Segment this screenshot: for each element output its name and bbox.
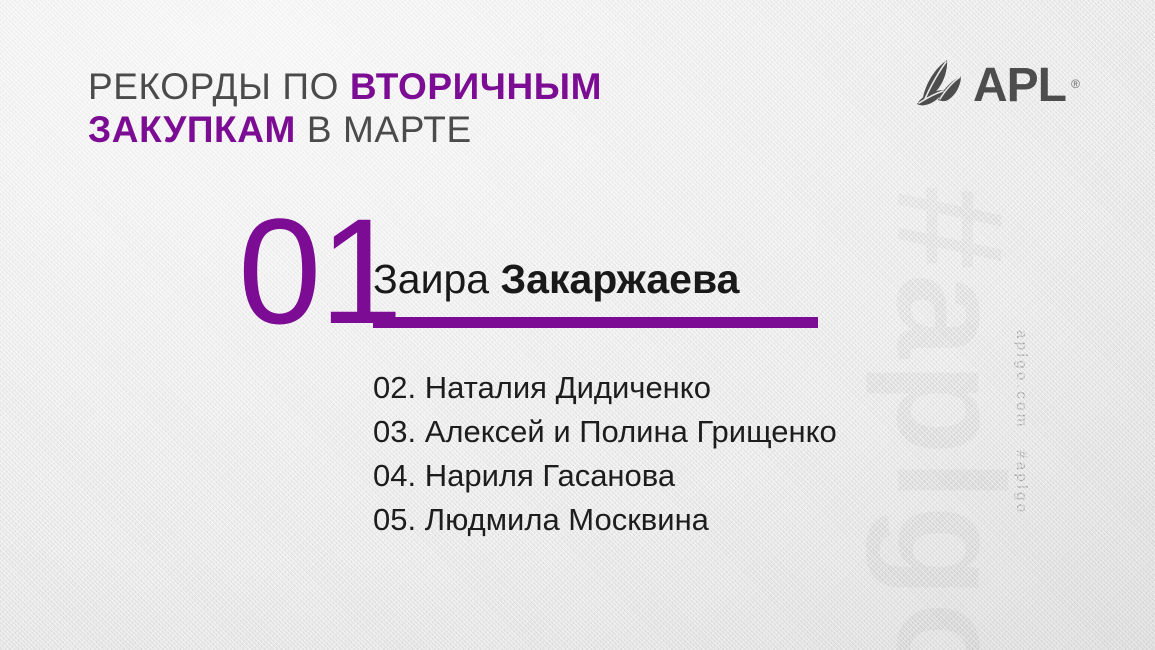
list-item-name: Нариля Гасанова	[425, 458, 675, 493]
slide-title-plain-2: В МАРТЕ	[296, 109, 472, 150]
slide-title-accent-1: ВТОРИЧНЫМ	[350, 66, 602, 107]
watermark-website: aplgo.com	[1013, 330, 1030, 430]
list-item-name: Алексей и Полина Грищенко	[425, 414, 837, 449]
brand-wordmark-text: APL	[973, 59, 1066, 112]
winner-name: Заира Закаржаева	[373, 255, 739, 303]
winner-last-name: Закаржаева	[500, 256, 739, 302]
list-item: 05. Людмила Москвина	[373, 498, 837, 542]
slide-title: РЕКОРДЫ ПО ВТОРИЧНЫМ ЗАКУПКАМ В МАРТЕ	[88, 65, 602, 151]
watermark-hashtag: #aplgo	[1013, 450, 1030, 515]
slide-title-line-2: ЗАКУПКАМ В МАРТЕ	[88, 108, 602, 151]
slide-title-line-1: РЕКОРДЫ ПО ВТОРИЧНЫМ	[88, 65, 602, 108]
watermark-aplgo-large: #aplgo	[874, 185, 1026, 650]
registered-trademark-icon: ®	[1071, 60, 1079, 108]
slide-title-accent-2: ЗАКУПКАМ	[88, 109, 296, 150]
winner-underline-bar	[373, 317, 818, 328]
brand-wordmark: APL ®	[973, 62, 1066, 110]
list-item-rank: 05.	[373, 502, 416, 537]
list-item-name: Наталия Дидиченко	[425, 370, 711, 405]
runners-up-list: 02. Наталия Дидиченко 03. Алексей и Поли…	[373, 366, 837, 542]
brand-logo: APL ®	[913, 55, 1083, 117]
slide-title-plain-1: РЕКОРДЫ ПО	[88, 66, 350, 107]
presentation-slide: #aplgo aplgo.com #aplgo РЕКОРДЫ ПО ВТОРИ…	[0, 0, 1155, 650]
list-item: 04. Нариля Гасанова	[373, 454, 837, 498]
list-item-rank: 02.	[373, 370, 416, 405]
leaf-icon	[913, 57, 971, 115]
list-item-rank: 03.	[373, 414, 416, 449]
list-item: 02. Наталия Дидиченко	[373, 366, 837, 410]
list-item-rank: 04.	[373, 458, 416, 493]
list-item-name: Людмила Москвина	[425, 502, 709, 537]
list-item: 03. Алексей и Полина Грищенко	[373, 410, 837, 454]
winner-first-name: Заира	[373, 256, 489, 302]
